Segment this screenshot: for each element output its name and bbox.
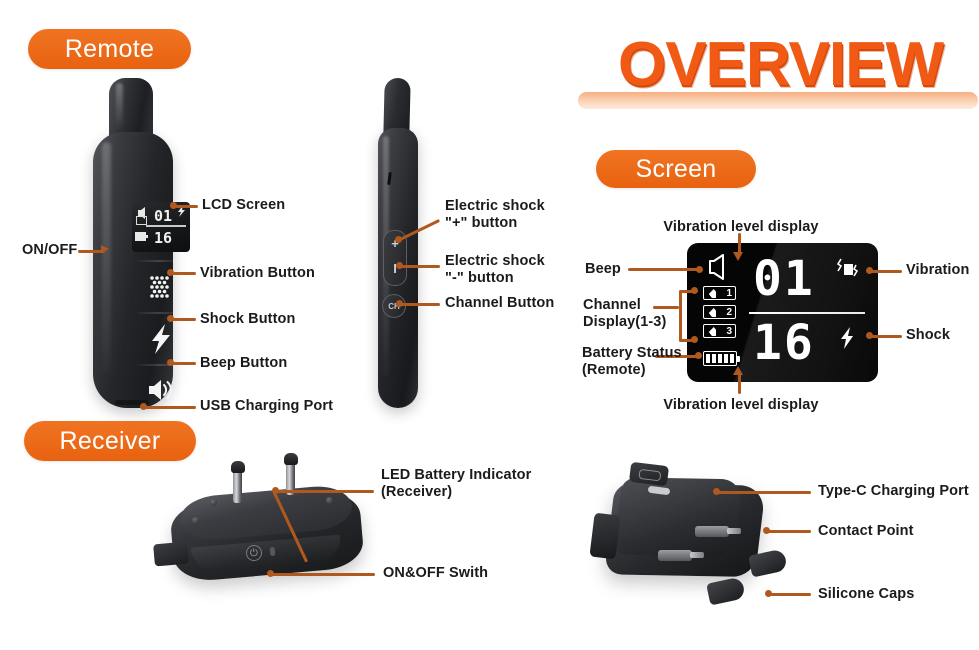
leader-line-vibration [870, 270, 902, 273]
page-title: OVERVIEW [588, 34, 973, 96]
section-badge-screen-label: Screen [635, 155, 716, 184]
remote-channel-button[interactable]: CH [382, 294, 406, 318]
leader-line-on-off-switch [271, 573, 375, 576]
leader-arrow-vibration-top [733, 252, 743, 261]
lcd-channel-1-value: 1 [726, 288, 732, 299]
remote-shock-button[interactable] [138, 316, 184, 362]
lcd-channel-1: 1 [703, 286, 736, 300]
mini-lcd-channel-icon [136, 216, 147, 225]
leader-line-vibration-bottom [738, 372, 741, 394]
label-usb-charging-port: USB Charging Port [200, 398, 333, 415]
leader-arrow-vibration-bottom [733, 366, 743, 375]
remote-mini-lcd: 01 16 [132, 202, 190, 252]
remote-button-divider-2 [137, 312, 181, 314]
leader-line-channel-button [400, 303, 440, 306]
lcd-channel-2: 2 [703, 305, 736, 319]
leader-arrow-on-off [101, 245, 109, 253]
label-on-off: ON/OFF [22, 242, 77, 259]
label-vibration-level-top: Vibration level display [663, 219, 818, 236]
label-shock-button: Shock Button [200, 311, 295, 328]
label-shock: Shock [906, 327, 950, 344]
leader-dot-battery [695, 352, 702, 359]
leader-dot-channel-1 [691, 287, 698, 294]
lcd-top-value: 01 [753, 255, 815, 303]
label-battery-status: Battery Status (Remote) [582, 345, 682, 379]
leader-line-contact-point [767, 530, 811, 533]
leader-dot-channel-3 [691, 336, 698, 343]
leader-line-beep-button [171, 362, 196, 365]
receiver-right-image [600, 462, 820, 622]
leader-dot-beep [696, 266, 703, 273]
leader-bracket-channel [679, 291, 682, 341]
leader-line-led-indicator [276, 490, 374, 493]
lcd-divider [749, 312, 865, 314]
label-silicone-caps: Silicone Caps [818, 586, 914, 603]
leader-line-shock-button [171, 318, 196, 321]
lcd-vibration-icon [835, 257, 861, 281]
mini-lcd-divider [146, 225, 186, 227]
label-channel-display: Channel Display(1-3) [583, 297, 666, 331]
lcd-battery-icon [703, 351, 737, 366]
receiver-led-indicator [270, 547, 276, 556]
label-vibration-button: Vibration Button [200, 265, 315, 282]
lcd-channel-3-value: 3 [726, 326, 732, 337]
receiver-left-image: ⏻ [150, 455, 380, 600]
label-channel-button: Channel Button [445, 295, 554, 312]
lcd-shock-icon [839, 327, 855, 349]
receiver-probe-left [233, 469, 242, 503]
receiver-screw-2 [210, 499, 217, 506]
remote-side-image: + I CH [368, 78, 428, 408]
leader-line-shock [870, 335, 902, 338]
remote-button-divider-1 [137, 260, 181, 262]
remote-vibration-button[interactable] [138, 264, 184, 310]
section-badge-receiver-label: Receiver [59, 427, 160, 456]
label-contact-point: Contact Point [818, 523, 914, 540]
receiver-screw-3 [326, 497, 333, 504]
label-vibration: Vibration [906, 262, 969, 279]
lcd-channel-3: 3 [703, 324, 736, 338]
label-on-off-switch: ON&OFF Swith [383, 565, 488, 582]
lcd-channel-2-value: 2 [726, 307, 732, 318]
lightning-bolt-icon [150, 324, 172, 354]
mini-lcd-bottom-value: 16 [154, 229, 172, 247]
leader-line-beep [628, 268, 698, 271]
section-badge-screen: Screen [596, 150, 756, 188]
label-beep-button: Beep Button [200, 355, 287, 372]
section-badge-remote: Remote [28, 29, 191, 69]
leader-line-type-c-port [717, 491, 811, 494]
receiver-strap-clip [153, 542, 189, 567]
receiver-contact-point-1 [695, 526, 729, 537]
label-lcd-screen: LCD Screen [202, 197, 285, 214]
lcd-display-panel: 1 2 3 01 16 [687, 243, 878, 382]
label-shock-minus: Electric shock "-" button [445, 253, 545, 287]
leader-line-lcd-screen [174, 205, 198, 208]
silicone-cap-2 [706, 576, 746, 605]
leader-line-usb-port [144, 406, 196, 409]
lcd-beep-icon [707, 254, 727, 280]
power-icon: ⏻ [250, 547, 259, 559]
lcd-bottom-value: 16 [753, 319, 815, 367]
receiver-right-face [613, 477, 743, 557]
label-vibration-level-bottom: Vibration level display [663, 397, 818, 414]
receiver-right-side-clip [589, 513, 620, 560]
leader-line-silicone-caps [769, 593, 811, 596]
leader-line-vibration-button [171, 272, 196, 275]
receiver-contact-point-2 [658, 550, 692, 561]
label-beep: Beep [585, 261, 621, 278]
leader-line-shock-minus [400, 265, 440, 268]
section-badge-remote-label: Remote [65, 35, 154, 64]
mini-lcd-top-value: 01 [154, 207, 172, 225]
label-led-battery-indicator: LED Battery Indicator (Receiver) [381, 467, 531, 501]
speaker-icon [147, 378, 175, 402]
mini-lcd-battery-icon [135, 232, 148, 241]
label-type-c-port: Type-C Charging Port [818, 483, 969, 500]
label-shock-plus: Electric shock "+" button [445, 198, 545, 232]
vibration-waves-icon [148, 274, 174, 300]
receiver-screw-1 [192, 517, 199, 524]
